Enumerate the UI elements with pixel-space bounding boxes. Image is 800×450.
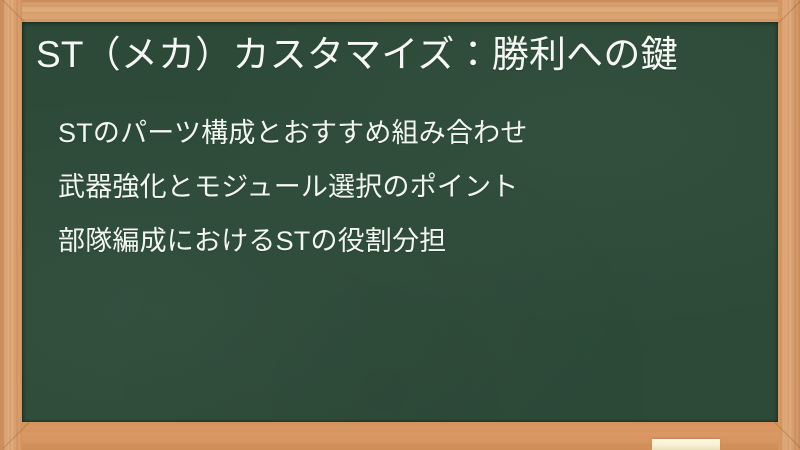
frame-rail-left — [0, 0, 22, 450]
chalkboard-slide: ST（メカ）カスタマイズ：勝利への鍵 STのパーツ構成とおすすめ組み合わせ 武器… — [0, 0, 800, 450]
slide-bullet-list: STのパーツ構成とおすすめ組み合わせ 武器強化とモジュール選択のポイント 部隊編… — [58, 120, 762, 255]
slide-bullet-item-1: STのパーツ構成とおすすめ組み合わせ — [58, 120, 762, 147]
slide-bullet-item-2: 武器強化とモジュール選択のポイント — [58, 174, 762, 201]
slide-bullet-item-3: 部隊編成におけるSTの役割分担 — [58, 228, 762, 255]
chalkboard-surface: ST（メカ）カスタマイズ：勝利への鍵 STのパーツ構成とおすすめ組み合わせ 武器… — [22, 22, 778, 422]
frame-rail-right — [778, 0, 800, 450]
frame-rail-top — [0, 0, 800, 23]
slide-title: ST（メカ）カスタマイズ：勝利への鍵 — [36, 32, 768, 78]
chalkboard-content: ST（メカ）カスタマイズ：勝利への鍵 STのパーツ構成とおすすめ組み合わせ 武器… — [22, 22, 778, 422]
chalk-stick-icon — [652, 439, 720, 450]
